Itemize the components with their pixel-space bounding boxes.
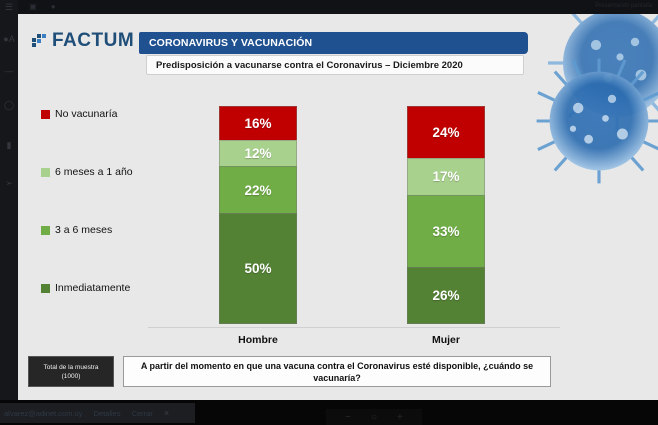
legend-label: No vacunaría [55,108,117,120]
close-icon[interactable]: × [164,408,169,418]
legend-item-3-a-6-meses[interactable]: 3 a 6 meses [41,224,112,236]
chat-icon[interactable]: ▮ [2,140,16,151]
legend-swatch [41,226,50,235]
bar-segment-6-meses-a-1-ano[interactable]: 17% [407,158,485,196]
bar-segment-label: 33% [432,224,459,239]
chart-legend: No vacunaría 6 meses a 1 año 3 a 6 meses… [33,86,183,331]
factum-logo: FACTUM [32,30,134,52]
bar-segment-inmediatamente[interactable]: 50% [219,213,297,324]
arrow-right-icon[interactable]: ➢ [2,178,16,189]
bar-segment-label: 22% [244,183,271,198]
screen-share-window: ☰ ▣ ● Presentando pantalla ☰ ●A — ◯ ▮ ➢ … [0,0,658,425]
presenting-status-label: Presentando pantalla [595,3,652,9]
slide-header: FACTUM CORONAVIRUS Y VACUNACIÓN Predispo… [18,14,658,86]
sample-size-box: Total de la muestra (1000) [28,356,114,387]
question-box: A partir del momento en que una vacuna c… [123,356,551,387]
menu-icon[interactable]: ☰ [2,2,16,13]
category-label-mujer: Mujer [407,334,485,346]
legend-label: 6 meses a 1 año [55,166,133,178]
slide-title-banner: CORONAVIRUS Y VACUNACIÓN [139,32,528,54]
question-text: A partir del momento en que una vacuna c… [132,360,542,384]
record-icon[interactable]: ● [51,2,56,12]
bar-segment-label: 12% [244,146,271,161]
text-icon[interactable]: — [2,66,16,76]
legend-label: Inmediatamente [55,282,130,294]
legend-swatch [41,110,50,119]
meeting-top-bar: ☰ ▣ ● Presentando pantalla [0,0,658,14]
zoom-out-icon[interactable]: − [345,412,351,423]
zoom-in-icon[interactable]: + [397,412,403,423]
legend-swatch [41,168,50,177]
call-details-link[interactable]: Detalles [93,409,120,418]
legend-item-inmediatamente[interactable]: Inmediatamente [41,282,130,294]
globe-icon[interactable]: ◯ [2,100,16,111]
meeting-left-rail: ☰ ●A — ◯ ▮ ➢ [0,0,18,400]
slide-subtitle-banner: Predisposición a vacunarse contra el Cor… [146,55,524,75]
pixel-squares-icon [32,34,47,49]
sample-size-label: Total de la muestra [44,363,99,372]
bar-segment-label: 17% [432,169,459,184]
zoom-controls: − ○ + [326,409,422,425]
call-close-link[interactable]: Cerrar [132,409,153,418]
bar-segment-label: 24% [432,125,459,140]
slide-title-text: CORONAVIRUS Y VACUNACIÓN [149,37,312,49]
legend-label: 3 a 6 meses [55,224,112,236]
sample-size-value: (1000) [62,372,81,381]
person-icon[interactable]: ●A [2,34,16,44]
zoom-reset-icon[interactable]: ○ [371,412,377,423]
slide-subtitle-text: Predisposición a vacunarse contra el Cor… [156,60,463,71]
legend-item-6-meses-a-1-ano[interactable]: 6 meses a 1 año [41,166,133,178]
legend-swatch [41,284,50,293]
legend-item-no-vacunaria[interactable]: No vacunaría [41,108,117,120]
factum-logo-text: FACTUM [52,30,134,52]
bar-segment-label: 16% [244,116,271,131]
category-label-hombre: Hombre [219,334,297,346]
bar-segment-no-vacunaria[interactable]: 24% [407,106,485,159]
camera-icon[interactable]: ▣ [29,2,37,12]
call-notification-bar: alvarez@adinet.com.uy Detalles Cerrar × [0,403,195,423]
bar-column-mujer: 24% 17% 33% 26% [407,106,485,324]
presentation-slide: FACTUM CORONAVIRUS Y VACUNACIÓN Predispo… [18,14,658,400]
bar-segment-6-meses-a-1-ano[interactable]: 12% [219,140,297,167]
stacked-bar-chart: No vacunaría 6 meses a 1 año 3 a 6 meses… [18,86,658,348]
bar-segment-3-a-6-meses[interactable]: 22% [219,166,297,215]
bar-segment-no-vacunaria[interactable]: 16% [219,106,297,141]
chart-axis-line [148,327,560,328]
bar-segment-3-a-6-meses[interactable]: 33% [407,195,485,268]
bar-column-hombre: 16% 12% 22% 50% [219,106,297,324]
bar-segment-inmediatamente[interactable]: 26% [407,267,485,324]
bar-segment-label: 26% [432,288,459,303]
call-account-email: alvarez@adinet.com.uy [4,409,82,418]
slide-footer: Total de la muestra (1000) A partir del … [18,354,658,400]
bar-segment-label: 50% [244,261,271,276]
